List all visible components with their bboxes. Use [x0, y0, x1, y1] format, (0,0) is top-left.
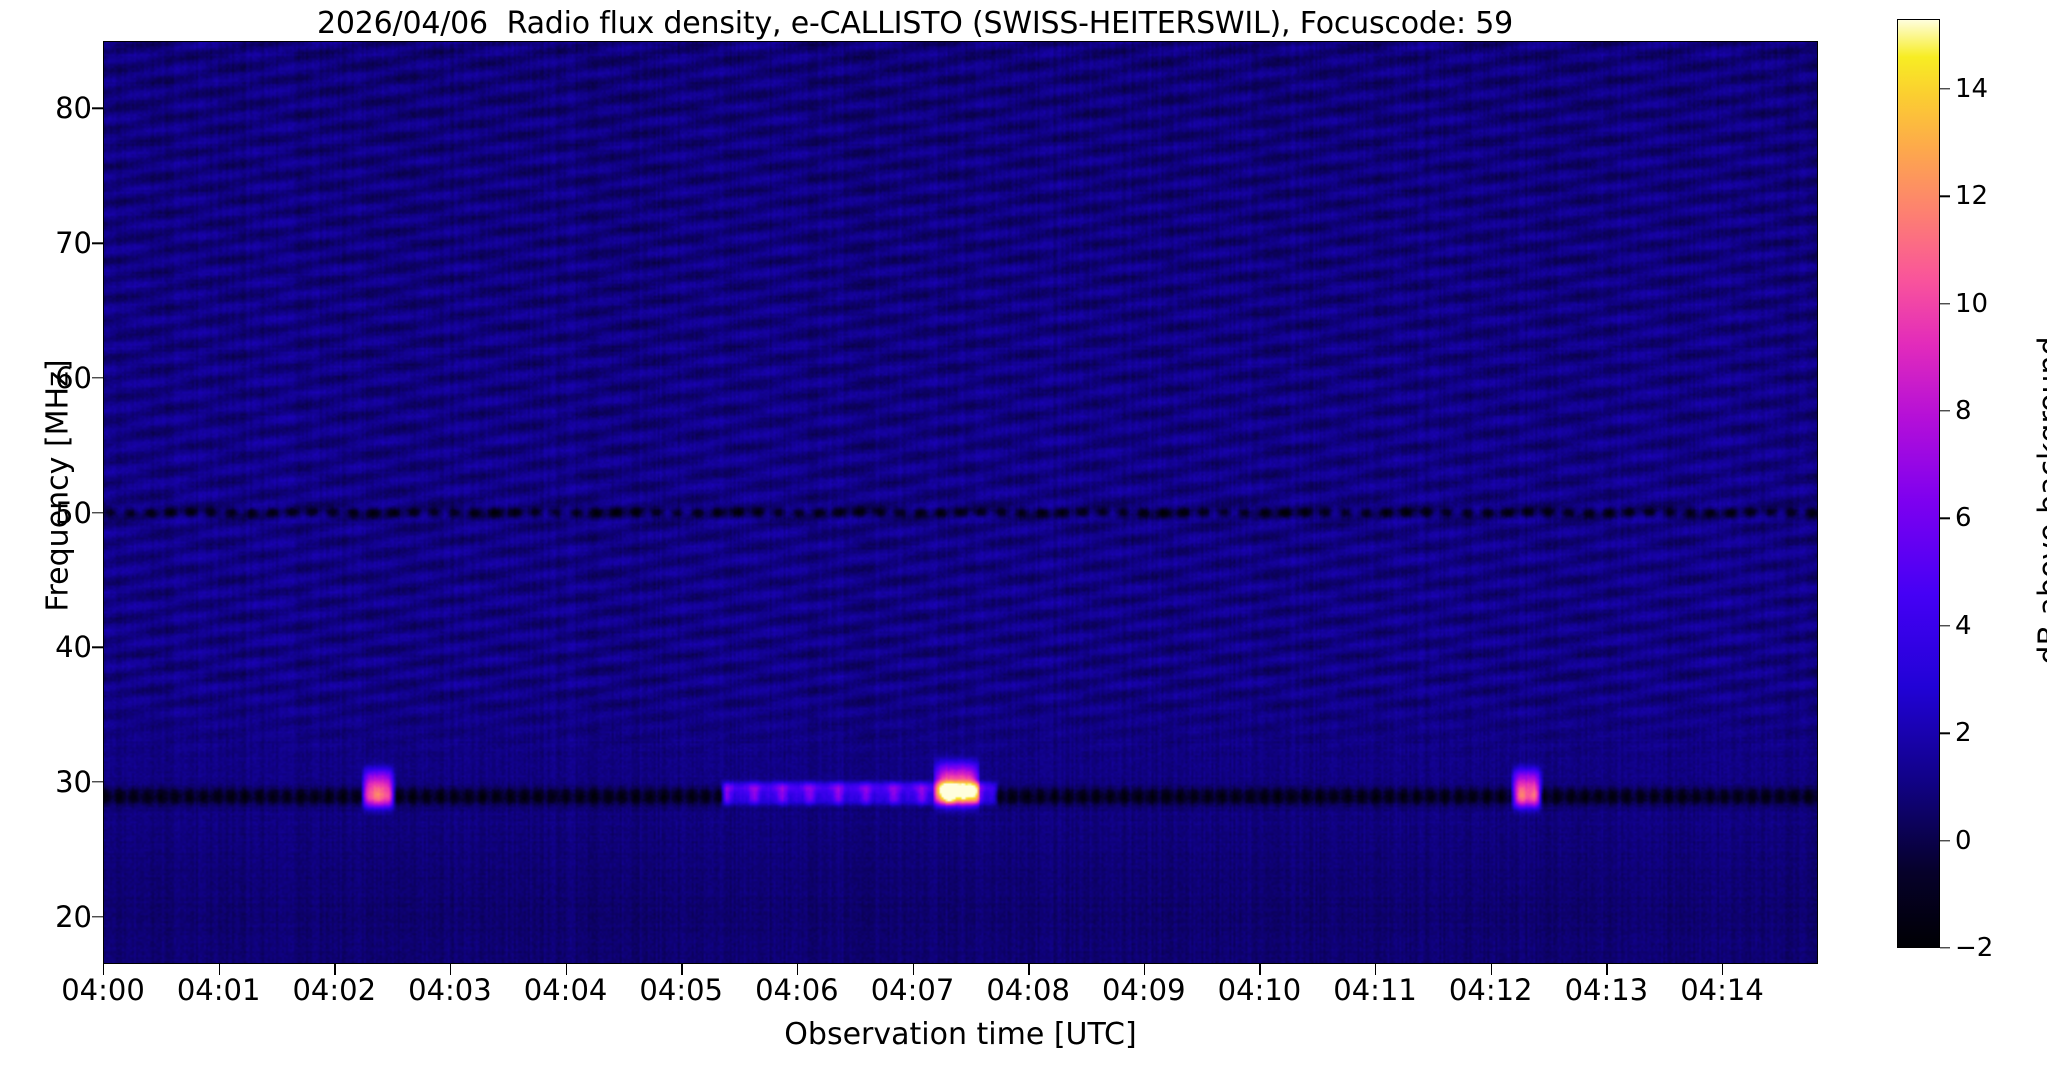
colorbar-tick-mark: [1940, 625, 1950, 626]
y-tick-label: 30: [0, 765, 92, 799]
x-tick-mark: [450, 964, 451, 975]
y-tick-label: 20: [0, 900, 92, 934]
colorbar-tick-mark: [1940, 303, 1950, 304]
x-tick-mark: [681, 964, 682, 975]
x-tick-mark: [334, 964, 335, 975]
colorbar-tick-label: 12: [1955, 181, 1988, 211]
x-tick-mark: [1491, 964, 1492, 975]
colorbar-tick-label: 2: [1955, 718, 1972, 748]
x-tick-mark: [566, 964, 567, 975]
colorbar-tick-label: 4: [1955, 611, 1972, 641]
y-tick-label: 70: [0, 226, 92, 260]
colorbar-tick-mark: [1940, 947, 1950, 948]
colorbar-tick-label: 6: [1955, 503, 1972, 533]
spectrogram-figure: 2026/04/06 Radio flux density, e-CALLIST…: [0, 0, 2047, 1067]
y-tick-label: 80: [0, 91, 92, 125]
y-tick-label: 60: [0, 361, 92, 395]
y-tick-mark: [92, 916, 103, 917]
colorbar[interactable]: [1897, 19, 1940, 948]
y-tick-label: 50: [0, 496, 92, 530]
colorbar-gradient: [1898, 20, 1939, 947]
y-tick-mark: [92, 108, 103, 109]
colorbar-tick-label: 8: [1955, 396, 1972, 426]
y-tick-mark: [92, 647, 103, 648]
colorbar-tick-mark: [1940, 88, 1950, 89]
y-tick-label: 40: [0, 630, 92, 664]
colorbar-tick-mark: [1940, 840, 1950, 841]
colorbar-tick-label: 0: [1955, 826, 1972, 856]
x-tick-mark: [1144, 964, 1145, 975]
x-tick-mark: [1259, 964, 1260, 975]
spectrogram-plot-area[interactable]: [103, 41, 1818, 964]
y-tick-mark: [92, 781, 103, 782]
spectrogram-heatmap: [104, 42, 1817, 963]
colorbar-label: dB above background: [2033, 151, 2047, 851]
colorbar-tick-mark: [1940, 410, 1950, 411]
x-tick-mark: [797, 964, 798, 975]
x-tick-mark: [913, 964, 914, 975]
x-tick-mark: [1028, 964, 1029, 975]
page-title: 2026/04/06 Radio flux density, e-CALLIST…: [0, 6, 1830, 41]
y-tick-mark: [92, 377, 103, 378]
colorbar-tick-label: 14: [1955, 74, 1988, 104]
x-tick-mark: [1375, 964, 1376, 975]
colorbar-tick-mark: [1940, 196, 1950, 197]
x-tick-mark: [219, 964, 220, 975]
colorbar-tick-mark: [1940, 732, 1950, 733]
colorbar-tick-label: 10: [1955, 289, 1988, 319]
x-tick-label: 04:14: [1632, 973, 1812, 1007]
y-tick-mark: [92, 242, 103, 243]
x-tick-mark: [1722, 964, 1723, 975]
y-tick-mark: [92, 512, 103, 513]
x-tick-mark: [1606, 964, 1607, 975]
x-tick-mark: [103, 964, 104, 975]
x-axis-label: Observation time [UTC]: [103, 1017, 1818, 1052]
colorbar-tick-label: −2: [1955, 933, 1993, 963]
colorbar-tick-mark: [1940, 518, 1950, 519]
